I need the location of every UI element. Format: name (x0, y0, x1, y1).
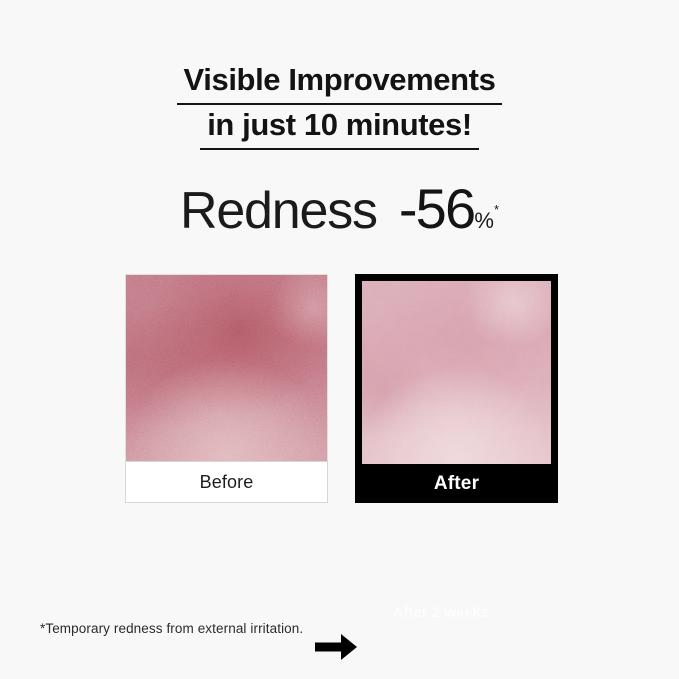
metric-unit: % (474, 208, 494, 233)
metric-row: Redness-56%* (0, 176, 679, 241)
metric-value: -56 (399, 177, 475, 240)
after-panel: After (355, 274, 558, 503)
before-skin-image (125, 274, 328, 461)
headline-block: Visible Improvements in just 10 minutes! (0, 60, 679, 150)
metric-footnote-marker: * (494, 202, 499, 217)
promo-graphic: Visible Improvements in just 10 minutes!… (0, 0, 679, 679)
headline-line-1-text: Visible Improvements (177, 60, 503, 105)
headline-line-2: in just 10 minutes! (0, 105, 679, 150)
headline-line-1: Visible Improvements (0, 60, 679, 105)
after-frame: After (355, 274, 558, 503)
before-after-comparison: Before (0, 274, 679, 506)
footnote-text: *Temporary redness from external irritat… (40, 621, 303, 636)
after-skin-image (362, 281, 551, 464)
before-caption: Before (125, 461, 328, 503)
watermark-text: After 2 weeks (376, 604, 506, 621)
headline-line-2-text: in just 10 minutes! (200, 105, 479, 150)
before-panel: Before (125, 274, 328, 503)
before-caption-text: Before (200, 472, 254, 493)
after-caption: After (355, 464, 558, 503)
metric-label: Redness (180, 182, 377, 240)
right-arrow-icon (315, 632, 357, 662)
after-caption-text: After (434, 473, 479, 495)
